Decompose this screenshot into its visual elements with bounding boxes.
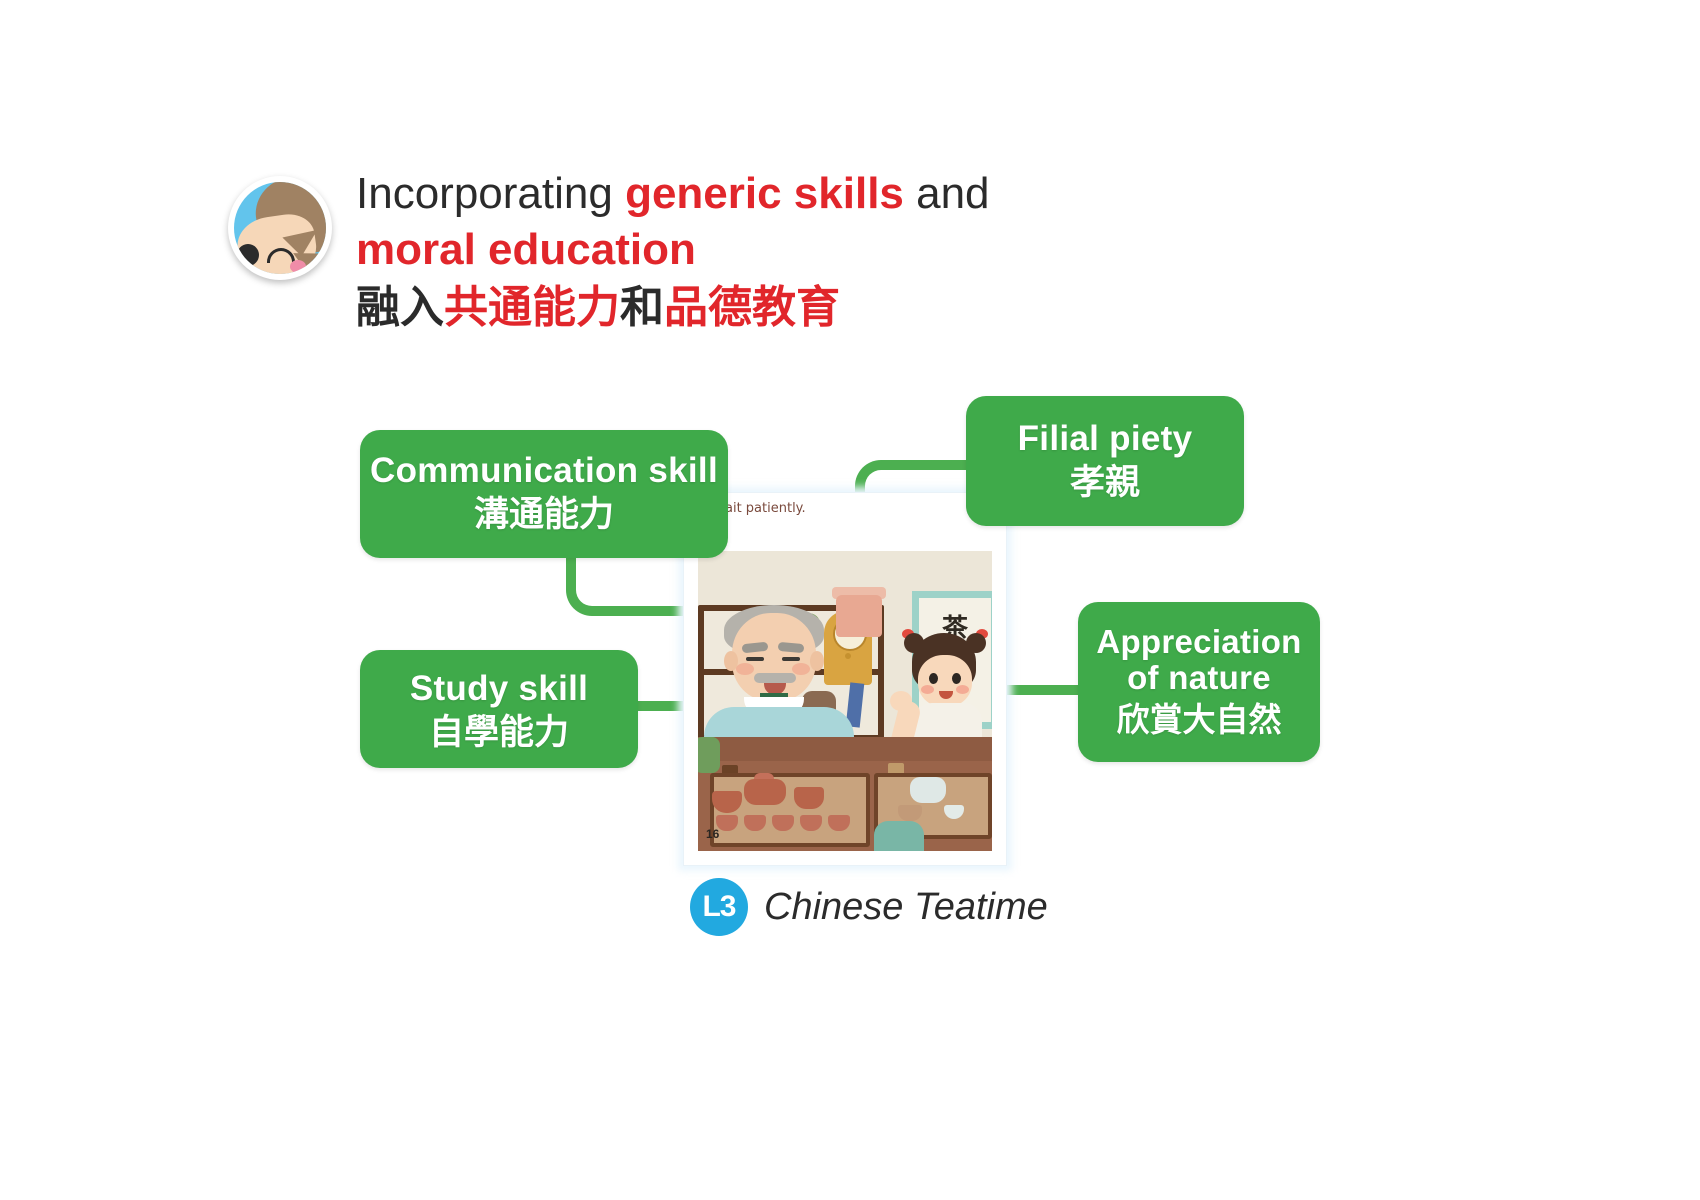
- callout-appreciation-of-nature[interactable]: Appreciation of nature 欣賞大自然: [1078, 602, 1320, 762]
- girl-eye: [952, 673, 961, 684]
- grandfather-cheek: [792, 663, 810, 675]
- callout-communication-zh: 溝通能力: [360, 495, 728, 535]
- callout-nature-en-line2: of nature: [1078, 660, 1320, 696]
- header-line1-prefix: Incorporating: [356, 169, 625, 218]
- avatar-inner: [234, 182, 326, 274]
- callout-study-skill[interactable]: Study skill 自學能力: [360, 650, 638, 768]
- clay-teapot: [744, 779, 786, 805]
- page-number: 16: [706, 827, 719, 841]
- slide-canvas: Incorporating generic skills and moral e…: [0, 0, 1700, 1200]
- header-line-1: Incorporating generic skills and: [356, 168, 1216, 220]
- header-line3-prefix: 融入: [356, 283, 444, 332]
- side-plant: [698, 737, 720, 773]
- girl-eye: [929, 673, 938, 684]
- callout-nature-en-line1: Appreciation: [1078, 624, 1320, 660]
- white-teapot: [910, 777, 946, 803]
- header-line3-highlight-1: 共通能力: [444, 283, 620, 332]
- callout-filial-piety[interactable]: Filial piety 孝親: [966, 396, 1244, 526]
- header-line1-suffix: and: [904, 169, 990, 218]
- avatar-nose: [237, 244, 259, 266]
- clock-pendulum: [845, 653, 851, 659]
- lesson-badge: L3: [690, 878, 748, 936]
- avatar-cheek: [290, 260, 306, 273]
- callout-communication-skill[interactable]: Communication skill 溝通能力: [360, 430, 728, 558]
- callout-nature-zh: 欣賞大自然: [1078, 701, 1320, 739]
- grandfather-eye: [746, 657, 764, 661]
- callout-filial-zh: 孝親: [966, 463, 1244, 503]
- image-card: en wait patiently.: [684, 493, 1006, 865]
- callout-communication-en: Communication skill: [360, 452, 728, 491]
- callout-study-zh: 自學能力: [360, 713, 638, 753]
- grandfather-cheek: [736, 663, 754, 675]
- lesson-title: Chinese Teatime: [764, 886, 1048, 929]
- header-line-3: 融入共通能力和品德教育: [356, 282, 1216, 334]
- lesson-caption: L3 Chinese Teatime: [690, 878, 1048, 936]
- ceramic-pot: [836, 595, 882, 637]
- grandfather-moustache: [754, 673, 796, 683]
- storybook-illustration: 茶 茶香: [698, 551, 992, 851]
- girl-hand: [890, 691, 912, 711]
- storybook-page-image: en wait patiently.: [684, 493, 1006, 865]
- green-tea-jar: [874, 821, 924, 851]
- hedgehog-avatar-icon: [228, 176, 332, 280]
- girl-cheek: [921, 685, 934, 694]
- storybook-sentence: en wait patiently.: [694, 501, 994, 516]
- callout-filial-en: Filial piety: [966, 420, 1244, 459]
- header-text: Incorporating generic skills and moral e…: [356, 168, 1216, 334]
- tea-cup: [898, 805, 922, 821]
- girl-face: [918, 655, 972, 707]
- callout-study-en: Study skill: [360, 670, 638, 709]
- grandfather-ear: [810, 651, 824, 671]
- header-line-2: moral education: [356, 224, 1216, 276]
- tea-pitcher: [794, 787, 824, 809]
- header-line1-highlight: generic skills: [625, 169, 904, 218]
- header-line3-mid: 和: [620, 283, 664, 332]
- header-line3-highlight-2: 品德教育: [664, 283, 840, 332]
- grandfather-eye: [782, 657, 800, 661]
- girl-cheek: [956, 685, 969, 694]
